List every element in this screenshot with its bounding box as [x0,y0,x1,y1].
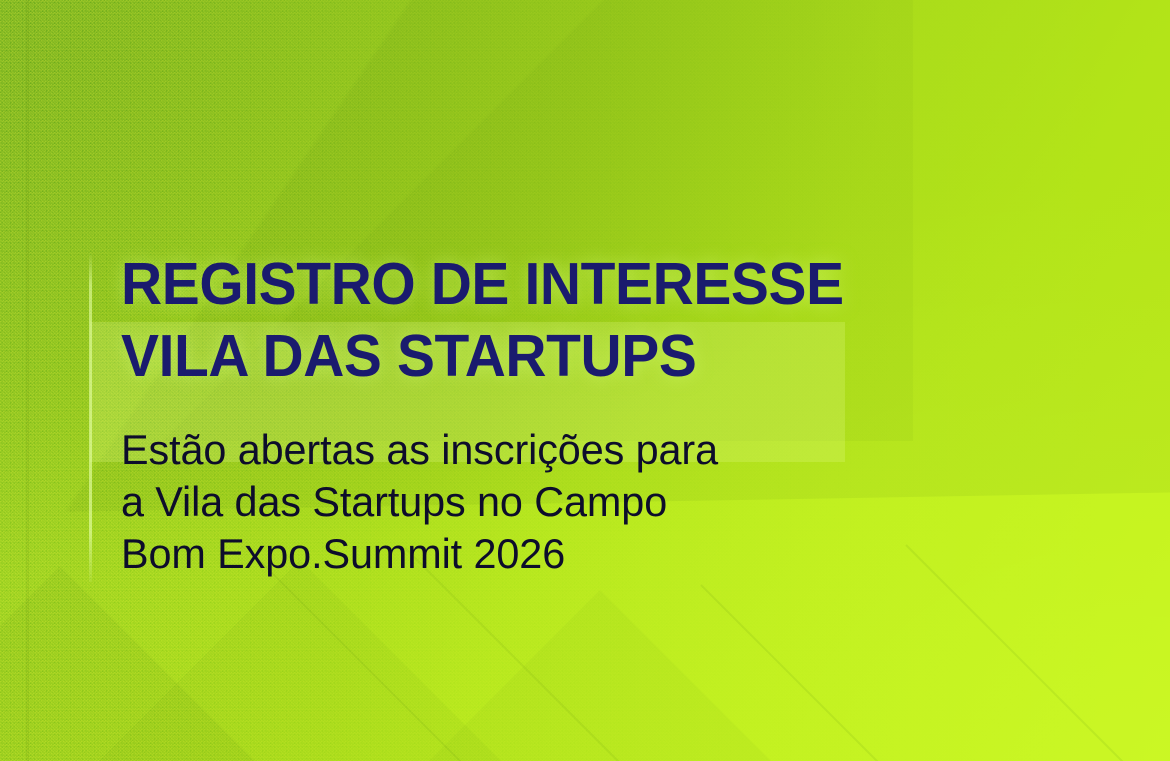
background-vertical-seam [26,0,29,761]
background-chevron-shape [367,590,834,761]
text-content-block: REGISTRO DE INTERESSE VILA DAS STARTUPS … [121,248,1021,580]
background-chevron-shape [0,566,428,761]
background-hairline [258,559,563,761]
left-accent-rule [89,252,92,582]
background-hairline [700,584,914,761]
background-chevron-shape [0,560,604,761]
page-title: REGISTRO DE INTERESSE VILA DAS STARTUPS [121,248,990,392]
page-subtitle: Estão abertas as inscrições para a Vila … [121,392,1008,580]
promo-poster: REGISTRO DE INTERESSE VILA DAS STARTUPS … [0,0,1170,761]
